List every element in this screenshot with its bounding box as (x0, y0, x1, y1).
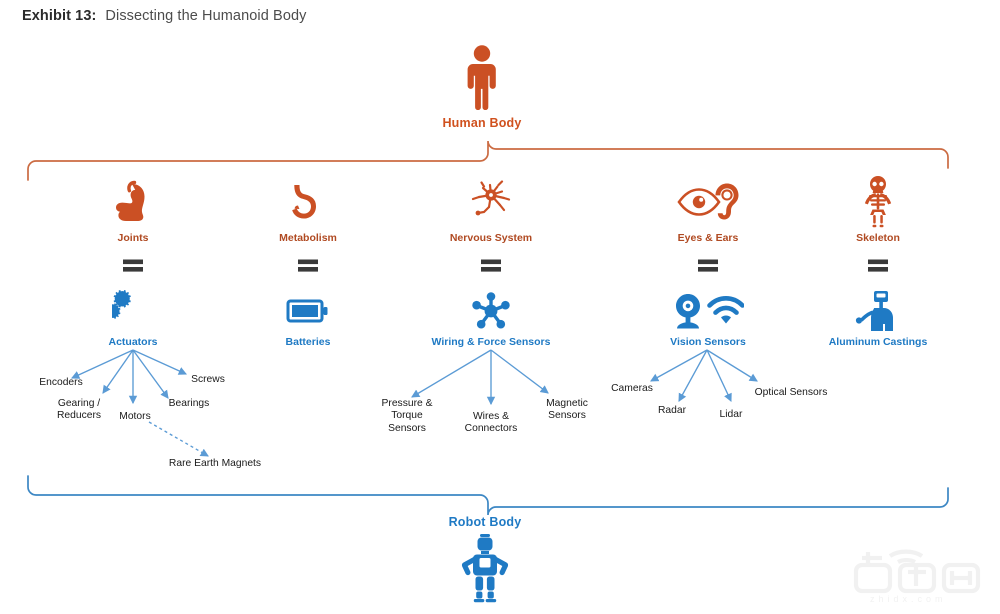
stomach-icon (218, 176, 398, 228)
leaf-bearings: Bearings (156, 398, 222, 410)
camera-wifi-icon (618, 289, 798, 333)
exhibit-header: Exhibit 13: Dissecting the Humanoid Body (22, 8, 307, 24)
exhibit-number: Exhibit 13: (22, 8, 96, 24)
column-metabolism: Metabolism Batteries (218, 176, 398, 348)
organ-label-skeleton: Skeleton (788, 232, 968, 245)
leaf-lidar: Lidar (704, 409, 758, 421)
part-label-aluminum-castings: Aluminum Castings (788, 336, 968, 349)
equals-sign-nervous-system (401, 258, 581, 273)
part-label-wiring-force-sensors: Wiring & Force Sensors (401, 336, 581, 349)
leaf-cameras: Cameras (600, 383, 664, 395)
equals-sign-joints (43, 258, 223, 273)
organ-label-joints: Joints (43, 232, 223, 245)
gears-icon (43, 289, 223, 333)
column-eyes-ears: Eyes & Ears (618, 176, 798, 348)
equals-sign-skeleton (788, 258, 968, 273)
battery-icon (218, 289, 398, 333)
part-label-vision-sensors: Vision Sensors (618, 336, 798, 349)
leaf-magnetic-sensors: Magnetic Sensors (533, 398, 601, 423)
organ-label-nervous-system: Nervous System (401, 232, 581, 245)
leaf-motors: Motors (104, 411, 166, 423)
leaf-optical-sensors: Optical Sensors (745, 387, 837, 399)
leaf-pressure-torque-sensors: Pressure & Torque Sensors (370, 398, 444, 435)
leaf-rare-earth-magnets: Rare Earth Magnets (154, 458, 276, 470)
part-label-actuators: Actuators (43, 336, 223, 349)
leaf-screws: Screws (177, 374, 239, 386)
neuron-icon (401, 176, 581, 228)
skeleton-icon (788, 176, 968, 228)
robot-body-label: Robot Body (385, 515, 585, 529)
leaf-radar: Radar (644, 405, 700, 417)
part-label-batteries: Batteries (218, 336, 398, 349)
node-network-icon (401, 289, 581, 333)
equals-sign-metabolism (218, 258, 398, 273)
organ-label-metabolism: Metabolism (218, 232, 398, 245)
leaf-wires-connectors: Wires & Connectors (455, 411, 527, 436)
metal-casting-icon (788, 289, 968, 333)
human-figure-icon (382, 42, 582, 110)
organ-label-eyes-ears: Eyes & Ears (618, 232, 798, 245)
exhibit-title: Dissecting the Humanoid Body (105, 8, 306, 24)
robot-figure-icon (385, 533, 585, 593)
bottom-brace (0, 474, 1000, 516)
human-body-label: Human Body (382, 116, 582, 130)
column-joints: Joints Actuators (43, 176, 223, 348)
diagram-canvas: Exhibit 13: Dissecting the Humanoid Body… (0, 0, 1000, 614)
robot-body-node: Robot Body (385, 515, 585, 593)
column-nervous-system: Nervous System Wiring & Force Sensors (401, 176, 581, 348)
eye-ear-icon (618, 176, 798, 228)
human-body-node: Human Body (382, 42, 582, 130)
equals-sign-eyes-ears (618, 258, 798, 273)
watermark-domain: zhidx.com (870, 594, 947, 604)
watermark-logo: zhidx.com (848, 540, 988, 606)
leaf-encoders: Encoders (26, 377, 96, 389)
column-skeleton: Skeleton Aluminum Castings (788, 176, 968, 348)
flexed-bicep-icon (43, 176, 223, 228)
